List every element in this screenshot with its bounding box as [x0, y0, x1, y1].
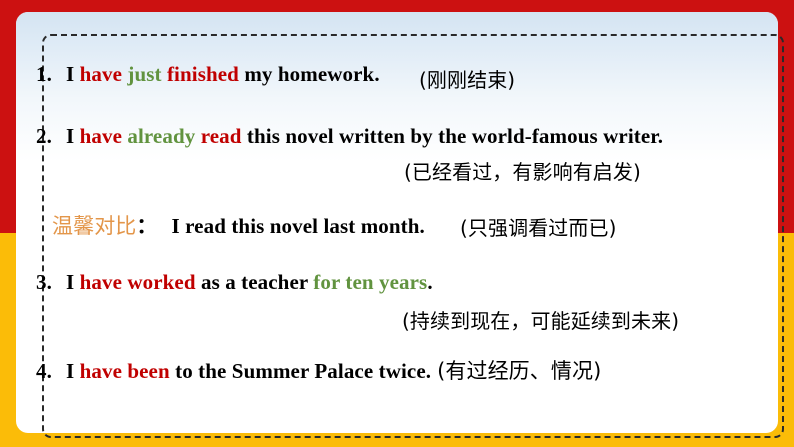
slide-root: 1.I have just finished my homework. (刚刚结… — [0, 0, 794, 447]
line-1-number: 1. — [36, 62, 52, 86]
line-3-mid: as a teacher — [201, 270, 308, 294]
contrast-label: 温馨对比 — [52, 214, 136, 238]
line-2-subject: I — [66, 124, 74, 148]
sentence-line-3: 3.I have worked as a teacher for ten yea… — [36, 270, 433, 295]
line-3-for-ten-years: for ten years — [313, 270, 427, 294]
sentence-line-2: 2.I have already read this novel written… — [36, 124, 663, 149]
line-4-subject: I — [66, 359, 74, 383]
line-2-number: 2. — [36, 124, 52, 148]
contrast-sentence: I read this novel last month. — [172, 214, 425, 238]
sentence-line-1: 1.I have just finished my homework. — [36, 62, 380, 87]
line-1-rest: my homework. — [244, 62, 379, 86]
line-3-period: . — [427, 270, 432, 294]
line-3-note: (持续到现在，可能延续到未来) — [402, 305, 679, 334]
line-1-have: have — [80, 62, 122, 86]
line-3-number: 3. — [36, 270, 52, 294]
line-3-have-worked: have worked — [80, 270, 196, 294]
line-1-subject: I — [66, 62, 74, 86]
line-1-note: (刚刚结束) — [419, 64, 515, 93]
line-2-read: read — [201, 124, 242, 148]
line-4-note: (有过经历、情况) — [437, 359, 601, 383]
contrast-note: (只强调看过而已) — [460, 212, 617, 241]
line-4-have-been: have been — [80, 359, 170, 383]
line-4-rest: to the Summer Palace twice. — [175, 359, 431, 383]
line-2-already: already — [127, 124, 195, 148]
contrast-line: 温馨对比：I read this novel last month. — [52, 210, 425, 240]
line-3-subject: I — [66, 270, 74, 294]
contrast-separator: ： — [136, 214, 157, 238]
line-4-number: 4. — [36, 359, 52, 383]
sentence-line-4: 4.I have been to the Summer Palace twice… — [36, 355, 601, 385]
line-2-note: (已经看过，有影响有启发) — [404, 156, 641, 185]
line-1-just: just — [127, 62, 161, 86]
line-1-finished: finished — [167, 62, 239, 86]
text-content: 1.I have just finished my homework. (刚刚结… — [0, 0, 794, 447]
line-2-have: have — [80, 124, 122, 148]
line-2-rest: this novel written by the world-famous w… — [247, 124, 663, 148]
